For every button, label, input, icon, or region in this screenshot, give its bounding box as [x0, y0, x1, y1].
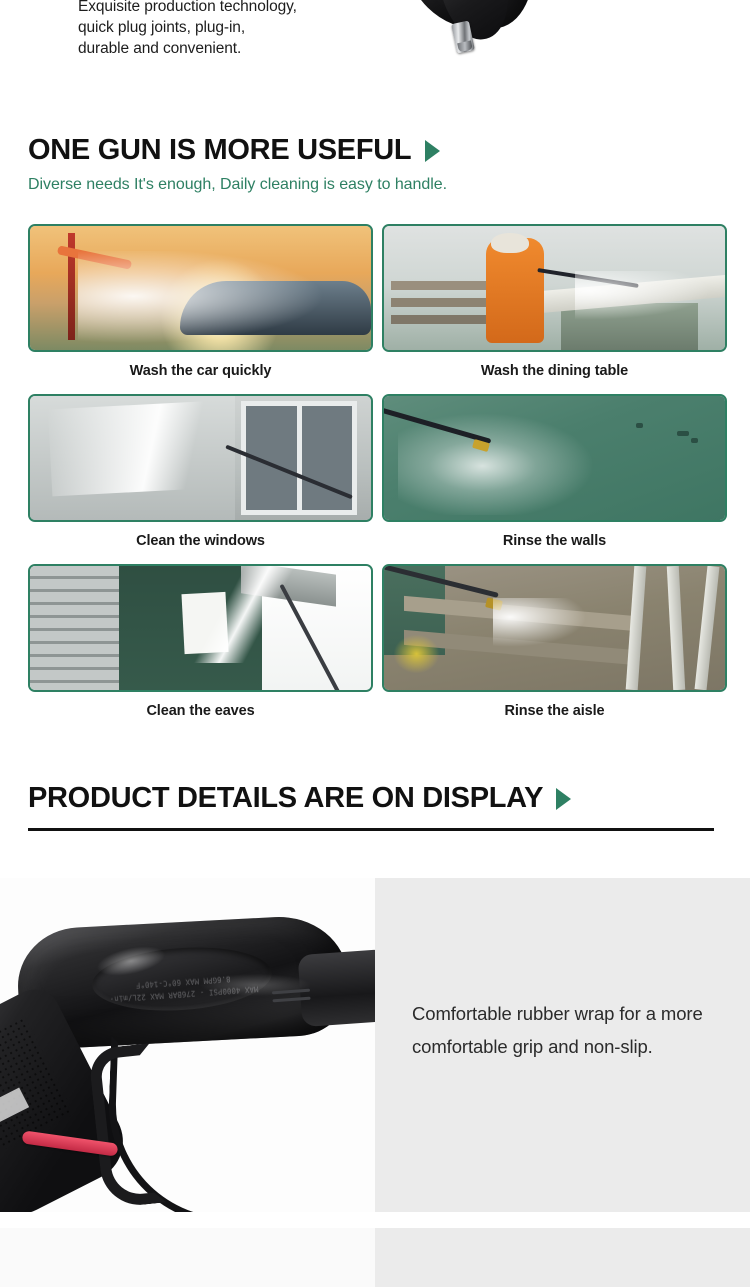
car-wash-photo — [28, 224, 373, 352]
eaves-cleaning-photo — [28, 564, 373, 692]
usage-card[interactable]: Clean the eaves — [28, 564, 373, 719]
intro-line-3: durable and convenient. — [78, 38, 378, 59]
window-cleaning-photo — [28, 394, 373, 522]
usage-card-caption: Rinse the walls — [382, 533, 727, 549]
intro-text: Exquisite production technology, quick p… — [78, 0, 378, 59]
gun-grip-photo: MAX 4000PSI - 276BAR MAX 22L/min-8.6GPM … — [0, 878, 375, 1218]
details-section-header: PRODUCT DETAILS ARE ON DISPLAY — [28, 782, 722, 831]
detail-description: Comfortable rubber wrap for a more comfo… — [412, 997, 720, 1063]
panel-gap — [0, 1212, 750, 1228]
usage-card-caption: Clean the eaves — [28, 703, 373, 719]
usage-card-row: Wash the car quickly Wash the dining tab… — [0, 224, 750, 394]
usage-card-caption: Wash the dining table — [382, 363, 727, 379]
pressure-washer-gun-icon — [398, 0, 558, 72]
triangle-right-icon — [425, 140, 440, 162]
usage-section-header: ONE GUN IS MORE USEFUL Diverse needs It'… — [28, 134, 447, 194]
usage-card-row: Clean the windows Rinse the walls — [0, 394, 750, 564]
details-section-title: PRODUCT DETAILS ARE ON DISPLAY — [28, 782, 543, 815]
usage-card-caption: Rinse the aisle — [382, 703, 727, 719]
product-detail-page: Exquisite production technology, quick p… — [0, 0, 750, 1287]
usage-card[interactable]: Wash the car quickly — [28, 224, 373, 379]
details-section-title-row: PRODUCT DETAILS ARE ON DISPLAY — [28, 782, 722, 815]
triangle-right-icon — [556, 788, 571, 810]
usage-section-title-row: ONE GUN IS MORE USEFUL — [28, 134, 447, 167]
usage-card-grid: Wash the car quickly Wash the dining tab… — [0, 224, 750, 734]
detail-text-panel: Comfortable rubber wrap for a more comfo… — [375, 878, 750, 1218]
next-panel-image-area — [0, 1228, 375, 1287]
aisle-rinse-photo — [382, 564, 727, 692]
usage-card[interactable]: Rinse the walls — [382, 394, 727, 549]
usage-card[interactable]: Wash the dining table — [382, 224, 727, 379]
usage-card[interactable]: Rinse the aisle — [382, 564, 727, 719]
dining-table-photo — [382, 224, 727, 352]
usage-card-caption: Clean the windows — [28, 533, 373, 549]
intro-block: Exquisite production technology, quick p… — [0, 0, 750, 95]
usage-card[interactable]: Clean the windows — [28, 394, 373, 549]
detail-panel: MAX 4000PSI - 276BAR MAX 22L/min-8.6GPM … — [0, 878, 750, 1218]
usage-card-caption: Wash the car quickly — [28, 363, 373, 379]
detail-panel-next — [0, 1228, 750, 1287]
usage-section-title: ONE GUN IS MORE USEFUL — [28, 134, 411, 167]
usage-section-subtitle: Diverse needs It's enough, Daily cleanin… — [28, 176, 447, 194]
next-panel-text-area — [375, 1228, 750, 1287]
intro-line-1: Exquisite production technology, — [78, 0, 378, 17]
wall-rinse-photo — [382, 394, 727, 522]
usage-card-row: Clean the eaves Rinse the aisle — [0, 564, 750, 734]
intro-line-2: quick plug joints, plug-in, — [78, 17, 378, 38]
details-heading-rule — [28, 828, 714, 831]
